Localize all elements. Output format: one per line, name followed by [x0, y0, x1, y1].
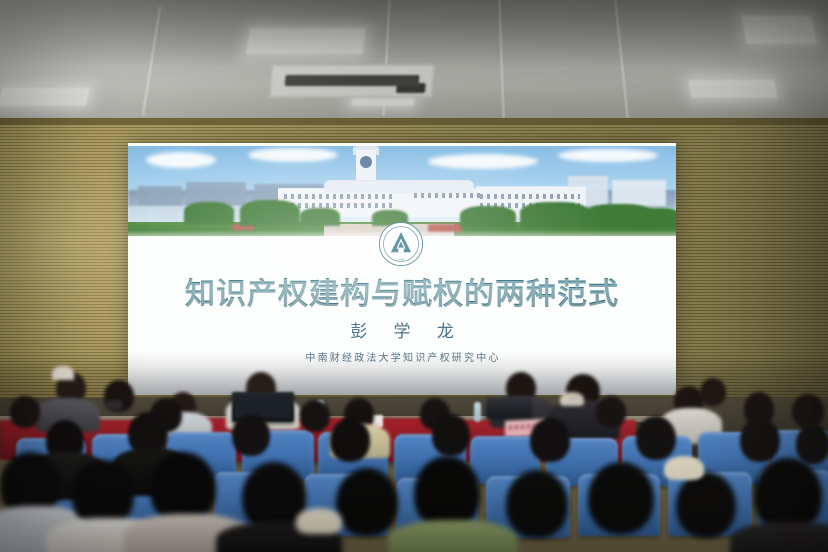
audience-cap: [560, 392, 584, 406]
audience-body: [730, 522, 828, 552]
slide-title: 知识产权建构与赋权的两种范式: [128, 269, 676, 313]
tree-cluster: [520, 202, 590, 228]
cloud: [248, 148, 338, 162]
audience-head: [700, 378, 726, 406]
cloud: [146, 152, 216, 168]
audience-head: [432, 414, 470, 456]
university-emblem-icon: 1948: [378, 221, 424, 267]
audience-body: [388, 520, 518, 552]
audience-head: [636, 416, 676, 460]
lecture-hall-photo: 1948 知识产权建构与赋权的两种范式 彭 学 龙 中南财经政法大学知识产权研究…: [0, 0, 828, 552]
phone: [106, 400, 122, 410]
audience-head: [588, 462, 654, 534]
building-windows: [284, 203, 394, 208]
audience-head: [740, 418, 780, 462]
audience-head: [232, 414, 270, 456]
wall-top-trim: [0, 118, 828, 125]
audience-cap: [296, 508, 342, 534]
tower-clock-face: [360, 156, 372, 168]
audience-hat: [52, 366, 74, 380]
water-bottle: [474, 402, 481, 422]
tree-cluster: [636, 208, 676, 228]
audience-cap: [664, 456, 704, 480]
audience-head: [414, 456, 480, 530]
tree-cluster: [460, 206, 516, 228]
building-windows: [284, 194, 394, 199]
slide-presenter-name: 彭 学 龙: [128, 317, 676, 342]
audience-head: [796, 424, 828, 464]
laptop: [486, 398, 532, 420]
tree-cluster: [240, 200, 300, 226]
building-windows: [480, 194, 580, 199]
audience-head: [300, 400, 330, 432]
audience-head: [596, 396, 626, 428]
tree-cluster: [300, 208, 340, 226]
audience-head: [336, 468, 398, 536]
cloud: [558, 149, 658, 162]
audience-head: [10, 396, 40, 428]
audience-head: [506, 470, 568, 538]
cloud: [428, 154, 538, 169]
distant-building: [138, 186, 182, 206]
svg-text:1948: 1948: [398, 258, 405, 262]
building-glass-roof: [324, 180, 474, 193]
audience-head: [330, 418, 370, 462]
audience-head: [792, 394, 824, 428]
audience-head: [676, 472, 736, 538]
tree-cluster: [184, 202, 234, 224]
audience-head: [754, 458, 822, 532]
audience-head: [530, 418, 570, 462]
distant-building: [612, 180, 666, 206]
building-windows: [414, 193, 484, 198]
